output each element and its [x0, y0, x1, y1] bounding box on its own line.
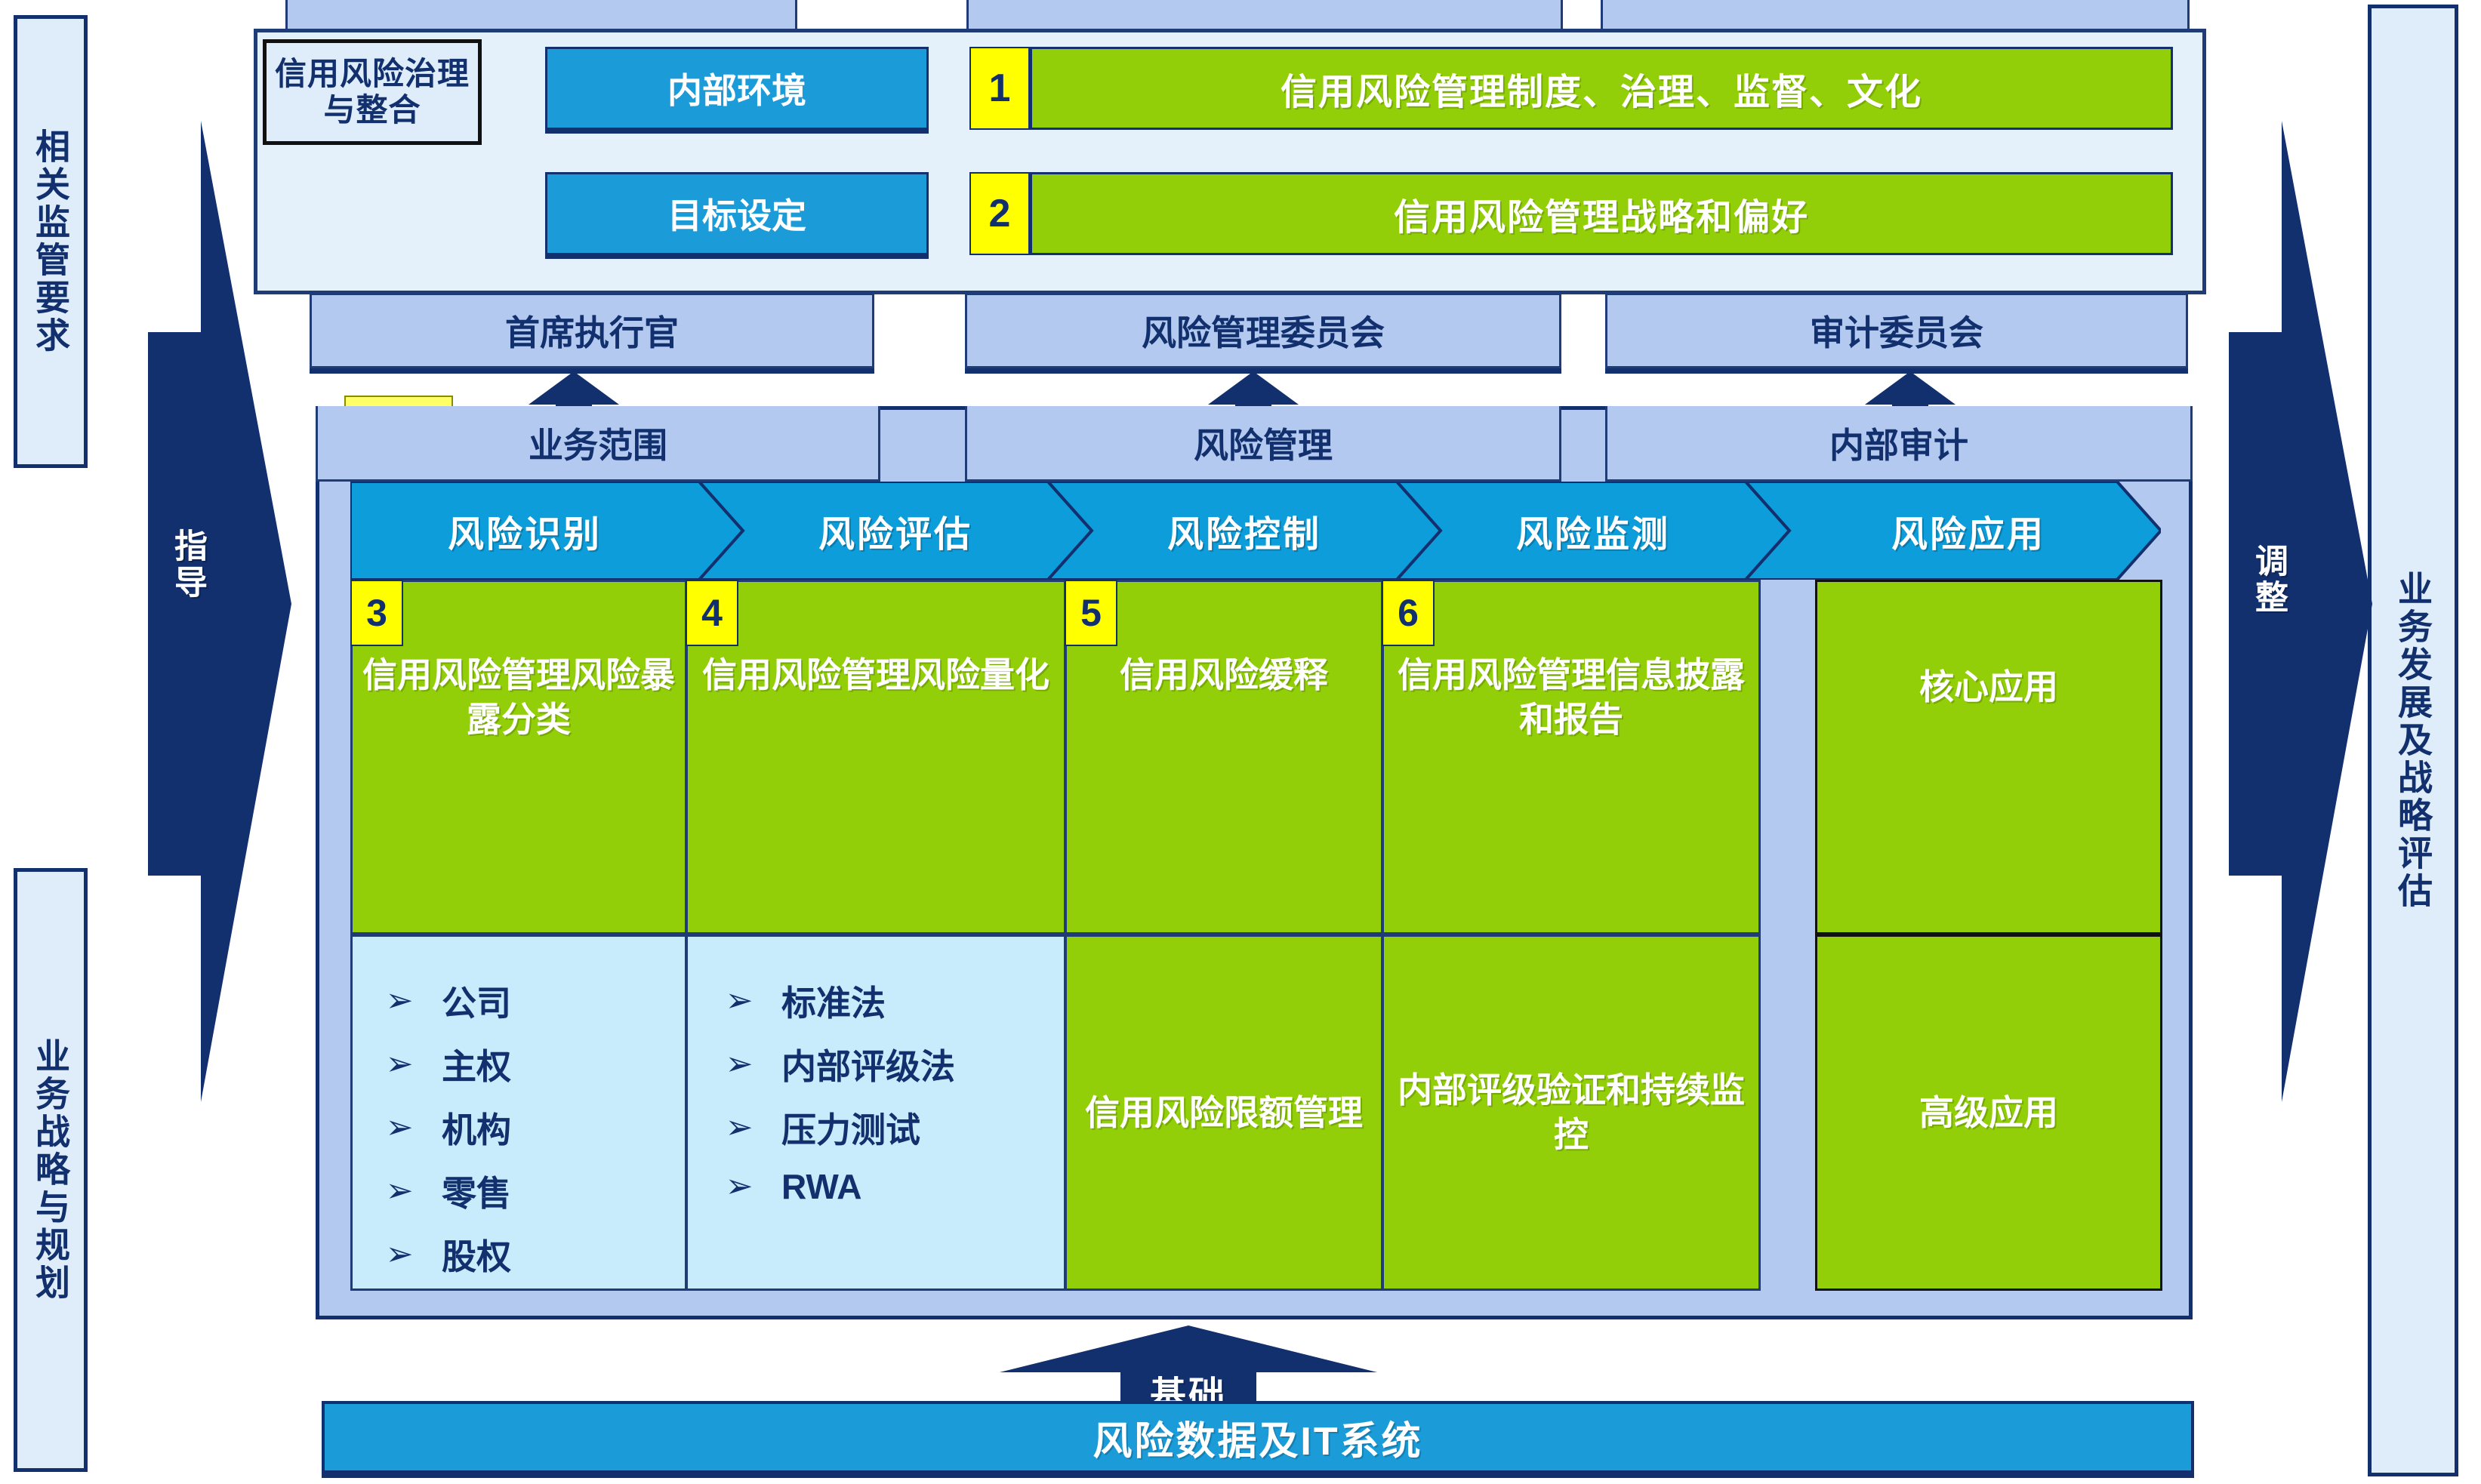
badge-number-5-label: 5 [1080, 591, 1102, 635]
list-item-label: 公司 [442, 976, 511, 1026]
badge-number-2: 2 [969, 172, 1030, 255]
bullet-arrow-icon: ➢ [723, 1111, 756, 1144]
list-item: ➢公司 [383, 976, 685, 1026]
guidance-arrow-label: 指导 [163, 528, 211, 601]
content-credit-risk-governance-label: 信用风险管理制度、治理、监督、文化 [1281, 62, 1922, 115]
grid-cell-measurement-methods-list: ➢标准法 ➢内部评级法 ➢压力测试 ➢RWA [686, 934, 1066, 1291]
list-item-label: 内部评级法 [781, 1039, 955, 1089]
grid-cell-rating-validation-monitoring-label: 内部评级验证和持续监控 [1384, 1068, 1758, 1157]
risk-data-it-system-label: 风险数据及IT系统 [1093, 1409, 1422, 1466]
diagram-canvas: 相关监管要求 业务战略与规划 指导 业务发展及战略评估 调整 信用风险治理与整合… [0, 0, 2481, 1484]
function-header-business-scope-label: 业务范围 [529, 418, 667, 468]
grid-cell-credit-limit-management: 信用风险限额管理 [1065, 934, 1383, 1291]
process-step-risk-identification: 风险识别 [350, 482, 743, 580]
badge-number-6-label: 6 [1398, 591, 1419, 635]
function-header-internal-audit: 内部审计 [1605, 406, 2193, 482]
bullet-arrow-icon: ➢ [723, 1170, 756, 1203]
badge-number-1-label: 1 [989, 66, 1011, 111]
grid-cell-risk-quantification-label: 信用风险管理风险量化 [693, 582, 1059, 697]
content-credit-risk-governance: 信用风险管理制度、治理、监督、文化 [1030, 47, 2173, 130]
panel-business-strategy-planning-label: 业务战略与规划 [29, 1038, 72, 1302]
grid-cell-risk-mitigation-label: 信用风险缓释 [1111, 582, 1337, 697]
list-item: ➢压力测试 [723, 1103, 1064, 1153]
process-step-risk-application: 风险应用 [1746, 482, 2161, 580]
panel-regulatory-requirements-label: 相关监管要求 [29, 128, 72, 355]
foundation-arrow: 基础 [1000, 1325, 1377, 1409]
badge-number-3: 3 [350, 580, 403, 646]
list-item: ➢标准法 [723, 976, 1064, 1026]
list-item-label: 机构 [442, 1103, 511, 1153]
bullet-arrow-icon: ➢ [383, 1238, 416, 1271]
adjustment-arrow-label: 调整 [2244, 543, 2292, 616]
badge-number-4-label: 4 [701, 591, 723, 635]
list-item: ➢主权 [383, 1039, 685, 1089]
panel-business-strategy-planning: 业务战略与规划 [14, 868, 88, 1472]
content-credit-risk-strategy-label: 信用风险管理战略和偏好 [1394, 187, 1809, 240]
category-internal-environment-label: 内部环境 [667, 63, 806, 113]
bullet-arrow-icon: ➢ [723, 1048, 756, 1081]
badge-number-2-label: 2 [989, 191, 1011, 236]
adjustment-arrow: 调整 [2229, 121, 2372, 1102]
grid-cell-risk-quantification: 信用风险管理风险量化 [686, 580, 1066, 934]
grid-cell-credit-limit-management-label: 信用风险限额管理 [1073, 1091, 1375, 1135]
badge-number-6: 6 [1382, 580, 1435, 646]
grid-cell-advanced-application: 高级应用 [1815, 934, 2162, 1291]
function-header-internal-audit-label: 内部审计 [1829, 418, 1968, 468]
badge-number-5: 5 [1065, 580, 1117, 646]
governance-title-box: 信用风险治理与整合 [263, 39, 482, 145]
panel-regulatory-requirements: 相关监管要求 [14, 15, 88, 468]
grid-cell-core-application: 核心应用 [1815, 580, 2162, 934]
badge-number-4: 4 [686, 580, 738, 646]
grid-cell-risk-disclosure-reporting: 信用风险管理信息披露和报告 [1382, 580, 1761, 934]
list-item: ➢RWA [723, 1166, 1064, 1207]
list-item: ➢股权 [383, 1230, 685, 1279]
process-step-risk-assessment: 风险评估 [699, 482, 1092, 580]
category-objective-setting-label: 目标设定 [667, 189, 806, 239]
role-header-audit-committee: 审计委员会 [1605, 293, 2188, 368]
risk-data-it-system-bar: 风险数据及IT系统 [322, 1401, 2194, 1473]
category-internal-environment: 内部环境 [545, 47, 929, 130]
list-item-label: 零售 [442, 1166, 511, 1216]
process-step-risk-control: 风险控制 [1048, 482, 1441, 580]
list-item-label: 主权 [442, 1039, 511, 1089]
role-header-risk-committee-label: 风险管理委员会 [1142, 306, 1385, 356]
list-item-label: 标准法 [781, 976, 886, 1026]
grid-cell-core-application-label: 核心应用 [1910, 582, 2067, 710]
bullet-arrow-icon: ➢ [383, 984, 416, 1018]
badge-number-1: 1 [969, 47, 1030, 130]
role-header-ceo: 首席执行官 [310, 293, 874, 368]
list-item: ➢内部评级法 [723, 1039, 1064, 1089]
role-header-risk-committee: 风险管理委员会 [965, 293, 1561, 368]
grid-cell-advanced-application-label: 高级应用 [1907, 1091, 2070, 1135]
grid-cell-risk-disclosure-reporting-label: 信用风险管理信息披露和报告 [1384, 582, 1758, 742]
list-item-label: 股权 [442, 1230, 511, 1279]
list-item: ➢零售 [383, 1166, 685, 1216]
measurement-methods-list: ➢标准法 ➢内部评级法 ➢压力测试 ➢RWA [688, 937, 1064, 1207]
grid-cell-rating-validation-monitoring: 内部评级验证和持续监控 [1382, 934, 1761, 1291]
function-header-risk-management-label: 风险管理 [1194, 418, 1333, 468]
role-header-ceo-label: 首席执行官 [505, 306, 679, 356]
list-item-label: RWA [781, 1166, 862, 1207]
bullet-arrow-icon: ➢ [723, 984, 756, 1018]
exposure-types-list: ➢公司 ➢主权 ➢机构 ➢零售 ➢股权 [353, 937, 685, 1279]
list-item-label: 压力测试 [781, 1103, 920, 1153]
content-credit-risk-strategy: 信用风险管理战略和偏好 [1030, 172, 2173, 255]
process-step-risk-monitoring: 风险监测 [1397, 482, 1789, 580]
governance-title-text: 信用风险治理与整合 [267, 56, 478, 129]
role-header-audit-committee-label: 审计委员会 [1810, 306, 1983, 356]
category-objective-setting: 目标设定 [545, 172, 929, 255]
function-header-risk-management: 风险管理 [965, 406, 1561, 482]
panel-business-development-evaluation-label: 业务发展及战略评估 [2392, 571, 2434, 910]
bullet-arrow-icon: ➢ [383, 1175, 416, 1208]
list-item: ➢机构 [383, 1103, 685, 1153]
bullet-arrow-icon: ➢ [383, 1111, 416, 1144]
grid-cell-exposure-types-list: ➢公司 ➢主权 ➢机构 ➢零售 ➢股权 [350, 934, 687, 1291]
bullet-arrow-icon: ➢ [383, 1048, 416, 1081]
function-header-business-scope: 业务范围 [316, 406, 880, 482]
panel-business-development-evaluation: 业务发展及战略评估 [2368, 5, 2458, 1476]
badge-number-3-label: 3 [366, 591, 387, 635]
